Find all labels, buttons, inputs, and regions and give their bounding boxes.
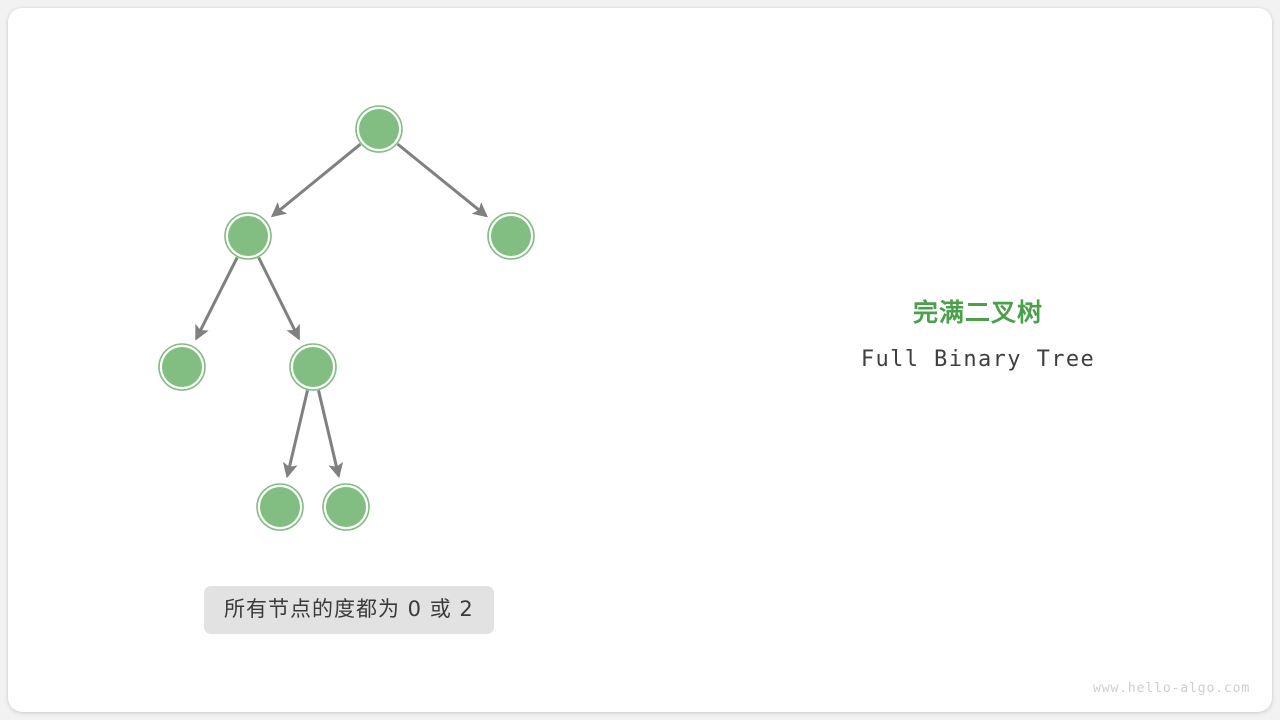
- legend-title-en: Full Binary Tree: [768, 346, 1188, 374]
- tree-node: [356, 106, 402, 152]
- watermark-text: www.hello-algo.com: [1093, 680, 1250, 696]
- tree-node-circle: [326, 487, 366, 527]
- tree-node-circle: [491, 216, 531, 256]
- tree-node: [488, 213, 534, 259]
- tree-node: [323, 484, 369, 530]
- tree-node-circle: [359, 109, 399, 149]
- tree-node: [159, 344, 205, 390]
- tree-edge: [196, 257, 237, 338]
- tree-edge: [259, 257, 299, 338]
- tree-node: [225, 213, 271, 259]
- diagram-canvas: 完满二叉树 Full Binary Tree 所有节点的度都为 0 或 2 ww…: [0, 0, 1280, 720]
- tree-node-circle: [162, 347, 202, 387]
- tree-edge: [319, 390, 339, 475]
- tree-edge: [273, 144, 361, 216]
- tree-nodes: [159, 106, 534, 530]
- tree-node: [290, 344, 336, 390]
- tree-edges: [196, 144, 486, 476]
- diagram-card: 完满二叉树 Full Binary Tree 所有节点的度都为 0 或 2 ww…: [8, 8, 1272, 712]
- tree-node-circle: [260, 487, 300, 527]
- tree-edge: [287, 390, 307, 475]
- tree-node-circle: [228, 216, 268, 256]
- legend-block: 完满二叉树 Full Binary Tree: [768, 296, 1188, 374]
- legend-title-cn: 完满二叉树: [768, 296, 1188, 330]
- tree-node: [257, 484, 303, 530]
- tree-node-circle: [293, 347, 333, 387]
- tree-edge: [398, 144, 486, 216]
- caption-badge: 所有节点的度都为 0 或 2: [204, 586, 494, 634]
